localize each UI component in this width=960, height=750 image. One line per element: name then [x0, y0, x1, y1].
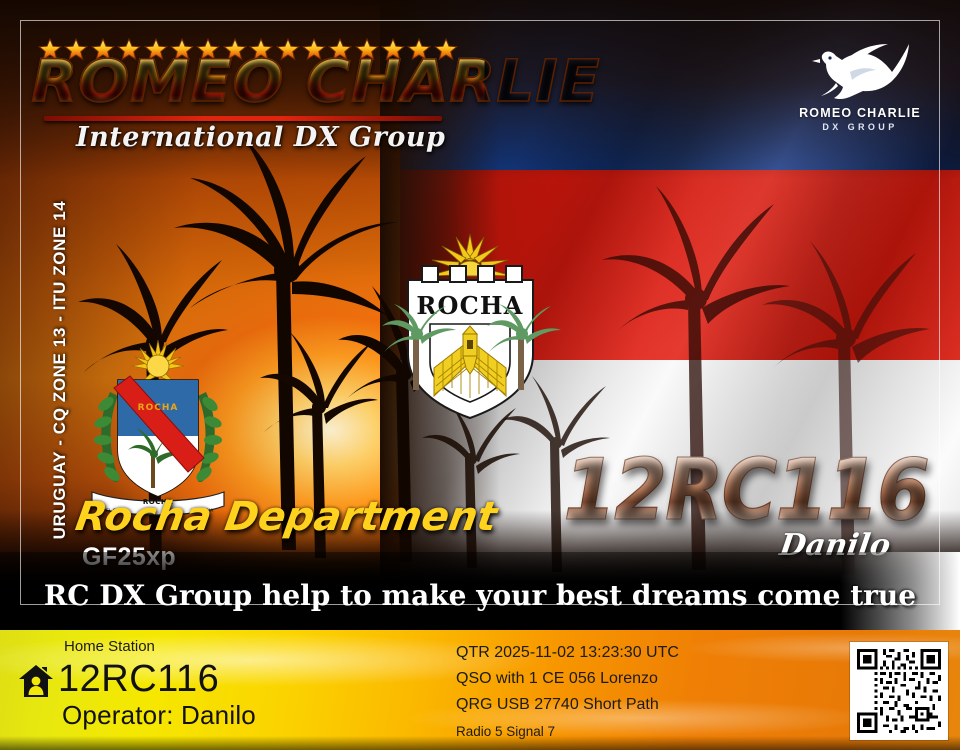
qr-code[interactable]: [850, 642, 948, 740]
card-artwork: ROMEO CHARLIE International DX Group ROM…: [0, 0, 960, 630]
qtr-line: QTR 2025-11-02 13:23:30 UTC: [456, 640, 856, 666]
callsign-display: 12RC116: [563, 447, 928, 532]
dx-group-logo-line1: ROMEO CHARLIE: [790, 106, 930, 120]
dx-group-logo: ROMEO CHARLIE DX GROUP: [790, 30, 930, 150]
rocha-coat-of-arms: ROCHA: [378, 228, 563, 426]
dx-group-logo-line2: DX GROUP: [790, 122, 930, 132]
qrg-line: QRG USB 27740 Short Path: [456, 692, 856, 718]
home-icon: [18, 664, 54, 698]
department-name: Rocha Department: [72, 494, 500, 540]
footer-operator: Operator: Danilo: [62, 700, 256, 731]
qsl-card: ROMEO CHARLIE International DX Group ROM…: [0, 0, 960, 750]
title-underline: [44, 116, 442, 121]
svg-text:ROCHA: ROCHA: [138, 403, 179, 413]
qr-code-icon: [857, 649, 941, 733]
dove-icon: [808, 30, 912, 104]
qso-line: QSO with 1 CE 056 Lorenzo: [456, 666, 856, 692]
zone-label: URUGUAY - CQ ZONE 13 - ITU ZONE 14: [50, 160, 70, 580]
footer-callsign: 12RC116: [58, 658, 219, 701]
radio-signal-line: Radio 5 Signal 7: [456, 721, 856, 743]
home-station-label: Home Station: [64, 638, 155, 655]
qso-details: QTR 2025-11-02 13:23:30 UTC QSO with 1 C…: [456, 640, 856, 743]
group-title: ROMEO CHARLIE: [31, 52, 484, 110]
group-subtitle: International DX Group: [76, 122, 476, 153]
tagline-text: RC DX Group help to make your best dream…: [0, 579, 960, 612]
